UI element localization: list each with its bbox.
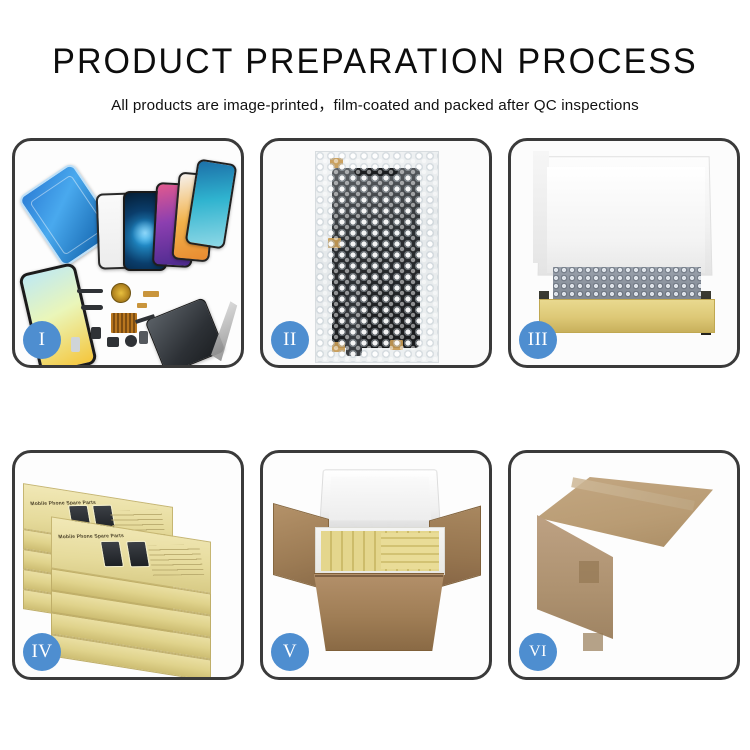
gold-connector [143, 291, 159, 297]
sim-tray [71, 337, 80, 352]
vibrator-part [107, 337, 119, 347]
carton-label-lower [583, 633, 603, 651]
step-badge-3: III [519, 321, 557, 359]
process-step-panel-5: V [260, 450, 492, 680]
carton-label-upper [579, 561, 599, 583]
box-screen-image-front-1 [100, 541, 124, 568]
product-preparation-process-infographic: PRODUCT PREPARATION PROCESS All products… [0, 0, 750, 750]
process-step-panel-1: I [12, 138, 244, 368]
speaker-part [77, 289, 103, 293]
box-label-front: Mobile Phone Spare Parts [58, 533, 125, 540]
page-title: PRODUCT PREPARATION PROCESS [11, 44, 739, 79]
carton-front-face [305, 573, 453, 651]
step-badge-6: VI [519, 633, 557, 671]
ic-chip [111, 313, 137, 333]
carton-foam-lid [319, 469, 441, 528]
carton-left-face [537, 515, 613, 639]
step-badge-2: II [271, 321, 309, 359]
box-spec-lines-front [148, 544, 204, 575]
coil-component [111, 283, 131, 303]
process-step-panel-3: III [508, 138, 740, 368]
process-steps-grid: I II [12, 138, 740, 682]
bracket-part [81, 305, 103, 310]
small-chip [139, 331, 148, 344]
tape-top [330, 158, 343, 168]
yellow-boxes-row-2 [381, 533, 439, 569]
step-badge-5: V [271, 633, 309, 671]
process-step-panel-4: Mobile Phone Spare Parts Mobile Phone Sp… [12, 450, 244, 680]
gold-contact [137, 303, 147, 308]
carton-seam [315, 575, 443, 577]
process-step-panel-2: II [260, 138, 492, 368]
button-part [125, 335, 137, 347]
page-subtitle: All products are image-printed，film-coat… [0, 93, 750, 115]
tape-middle [328, 238, 341, 248]
process-step-panel-6: VI [508, 450, 740, 680]
flex-cable-tail [346, 248, 362, 356]
tape-bottom-right [390, 340, 403, 350]
step-badge-4: IV [23, 633, 61, 671]
bubble-wrap-sleeve [315, 151, 439, 363]
screen-assembly [332, 168, 420, 348]
box-screen-image-front-2 [126, 541, 150, 568]
foam-sheet [547, 167, 705, 273]
step-badge-1: I [23, 321, 61, 359]
bubble-wrap-contents [553, 267, 701, 303]
header: PRODUCT PREPARATION PROCESS All products… [0, 0, 750, 115]
yellow-box-front [539, 299, 715, 333]
tape-bottom-left [332, 342, 345, 352]
camera-module [91, 327, 101, 339]
